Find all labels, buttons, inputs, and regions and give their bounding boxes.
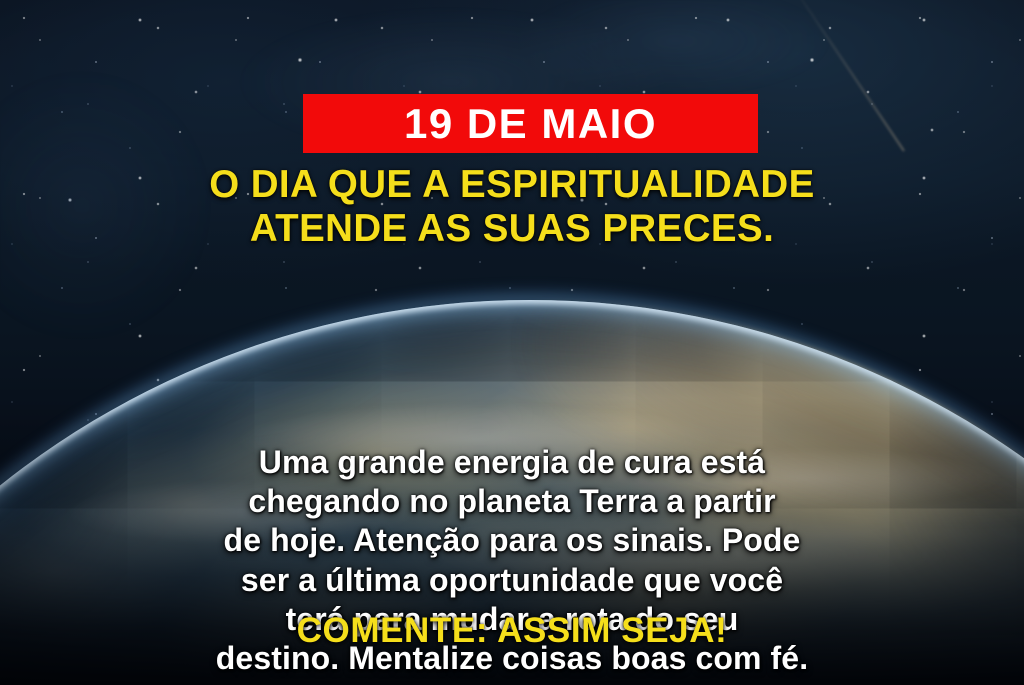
body-line-4: ser a última oportunidade que você [48, 561, 976, 600]
poster-root: 19 DE MAIO O DIA QUE A ESPIRITUALIDADE A… [0, 0, 1024, 685]
headline-line-2: ATENDE AS SUAS PRECES. [46, 207, 978, 251]
body-line-1: Uma grande energia de cura está [48, 443, 976, 482]
date-badge-label: 19 DE MAIO [404, 103, 657, 145]
date-badge: 19 DE MAIO [303, 94, 758, 153]
headline: O DIA QUE A ESPIRITUALIDADE ATENDE AS SU… [0, 163, 1024, 250]
poster-content: 19 DE MAIO O DIA QUE A ESPIRITUALIDADE A… [0, 0, 1024, 685]
call-to-action: COMENTE: ASSIM SEJA! [0, 612, 1024, 651]
body-line-2: chegando no planeta Terra a partir [48, 482, 976, 521]
headline-line-1: O DIA QUE A ESPIRITUALIDADE [46, 163, 978, 207]
body-line-3: de hoje. Atenção para os sinais. Pode [48, 521, 976, 560]
